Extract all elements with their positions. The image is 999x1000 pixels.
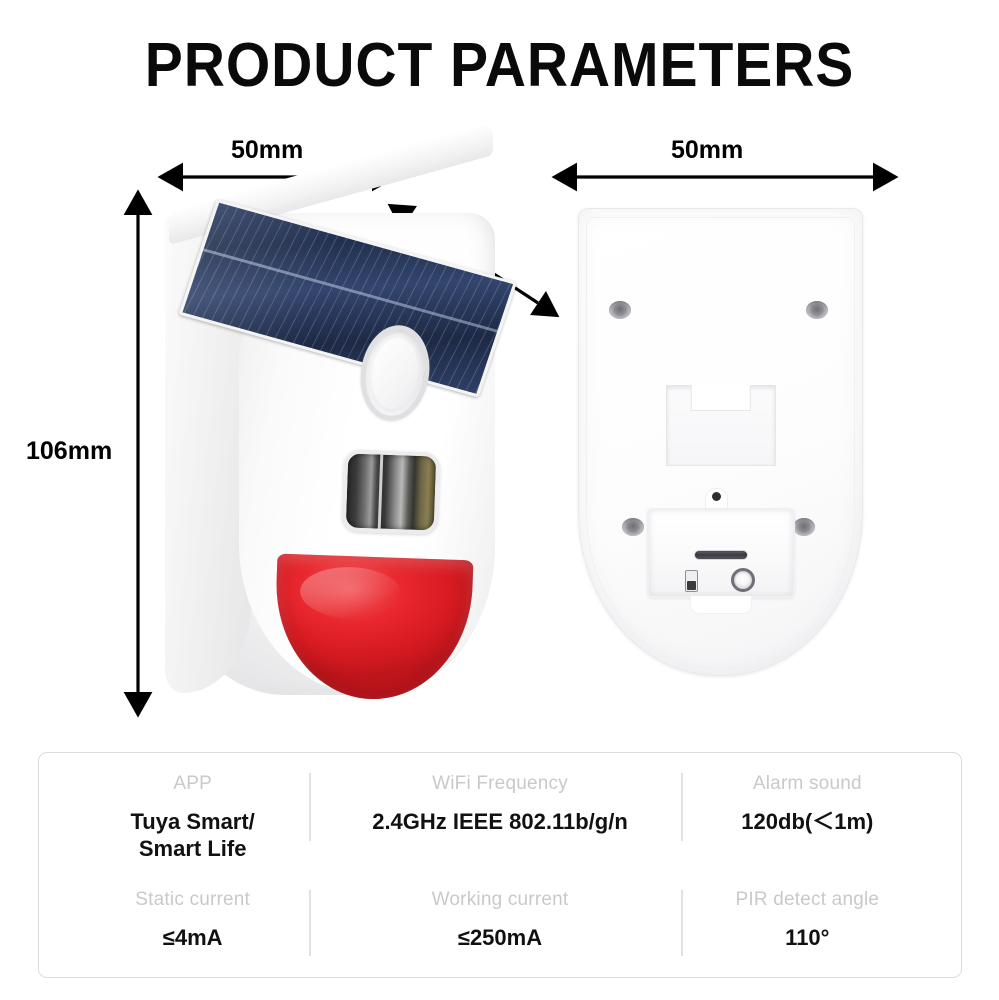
spec-value: 110° — [785, 925, 829, 952]
power-slide-switch — [685, 570, 698, 592]
wall-bracket-slot — [666, 385, 776, 466]
spec-value: 120db(＜1m) — [741, 809, 873, 836]
reset-pinhole-icon — [712, 492, 721, 501]
column-divider — [309, 890, 311, 956]
red-dome-gloss — [299, 566, 403, 621]
column-divider — [309, 773, 311, 841]
spec-cell-app: APP Tuya Smart/ Smart Life — [39, 753, 346, 865]
spec-label: PIR detect angle — [735, 889, 879, 911]
column-divider — [681, 773, 683, 841]
pir-sensor-window — [342, 449, 441, 534]
screw-hole-icon — [622, 518, 644, 536]
spec-value: ≤250mA — [458, 925, 542, 952]
spec-table: APP Tuya Smart/ Smart Life WiFi Frequenc… — [38, 752, 962, 978]
spec-label: APP — [173, 773, 212, 795]
column-divider — [681, 890, 683, 956]
spec-cell-wifi-frequency: WiFi Frequency 2.4GHz IEEE 802.11b/g/n — [346, 753, 653, 865]
siren-grille-inner — [367, 335, 423, 412]
screw-hole-icon — [609, 301, 631, 319]
back-width-label: 50mm — [671, 136, 743, 165]
product-back-view — [578, 208, 863, 676]
spec-grid: APP Tuya Smart/ Smart Life WiFi Frequenc… — [39, 753, 961, 977]
spec-label: Working current — [432, 889, 569, 911]
screw-hole-icon — [806, 301, 828, 319]
spec-cell-pir-detect-angle: PIR detect angle 110° — [654, 865, 961, 977]
page-title: PRODUCT PARAMETERS — [40, 30, 959, 101]
mode-round-button — [731, 568, 755, 592]
spec-label: Static current — [135, 889, 250, 911]
bracket-notch — [691, 385, 751, 411]
product-front-view — [165, 205, 495, 695]
port-recess-panel — [647, 508, 795, 598]
bottom-release-tab — [690, 596, 752, 614]
spec-label: WiFi Frequency — [432, 773, 568, 795]
pir-lens-divider — [377, 455, 383, 529]
spec-cell-working-current: Working current ≤250mA — [346, 865, 653, 977]
spec-cell-static-current: Static current ≤4mA — [39, 865, 346, 977]
product-parameters-page: PRODUCT PARAMETERS 50mm 50mm 106mm 50mm — [0, 0, 999, 1000]
front-height-label: 106mm — [26, 437, 112, 466]
spec-value: ≤4mA — [163, 925, 223, 952]
front-width-label: 50mm — [231, 136, 303, 165]
spec-value: 2.4GHz IEEE 802.11b/g/n — [372, 809, 628, 836]
spec-value: Tuya Smart/ Smart Life — [131, 809, 255, 863]
spec-label: Alarm sound — [753, 773, 862, 795]
screw-hole-icon — [793, 518, 815, 536]
usb-c-port-icon — [694, 550, 748, 560]
spec-cell-alarm-sound: Alarm sound 120db(＜1m) — [654, 753, 961, 865]
